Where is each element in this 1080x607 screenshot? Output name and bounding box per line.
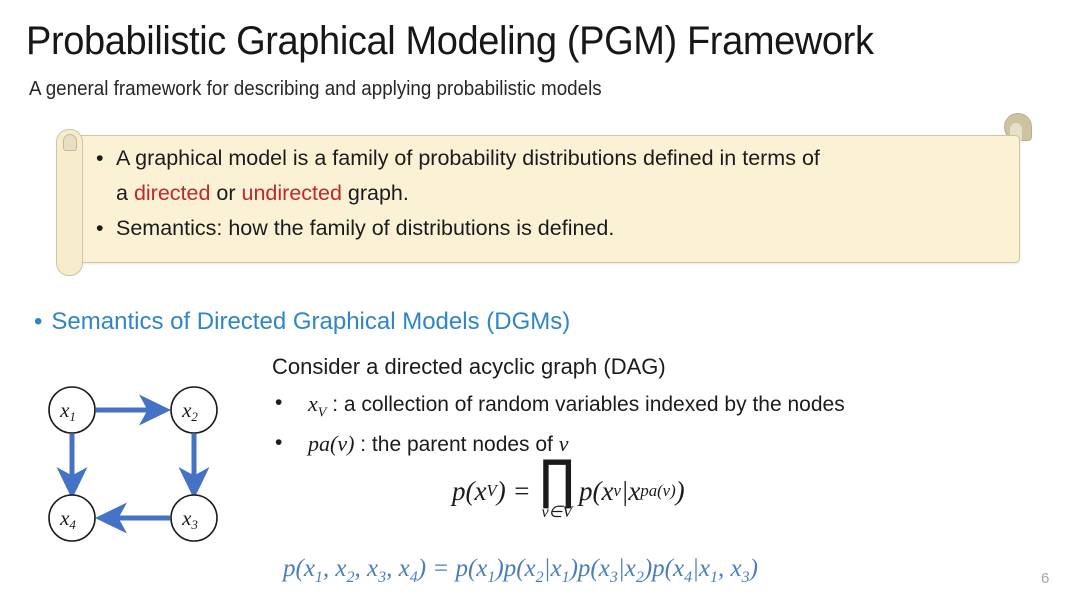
scroll-bullet-2: •Semantics: how the family of distributi… [94,211,1004,246]
product-symbol-group: ∏ v∈V [539,461,575,522]
factor-k: |x [692,555,710,582]
dag-svg: x1 x2 x4 x3 [28,366,258,551]
scroll-text-body: •A graphical model is a family of probab… [94,141,1004,246]
formula-equals: ) = [497,476,531,507]
factor-s4: 4 [410,569,418,586]
definition-item-xv: •xV : a collection of random variables i… [272,388,1032,428]
consider-line: Consider a directed acyclic graph (DAG) [272,352,666,382]
factor-s11: 1 [710,569,718,586]
factor-e: ) = p(x [418,555,488,582]
formula-rhs-bar: |x [621,476,640,507]
factor-s3: 3 [378,569,386,586]
factor-d: , x [386,555,410,582]
math-pa-v: pa(v) [308,431,354,456]
formula-lhs-sub: V [486,481,496,501]
scroll-bullet-1-continuation: a directed or undirected graph. [94,176,1004,211]
math-x-sub-v: xV [308,391,326,416]
factor-s9: 2 [636,569,644,586]
slide-canvas: Probabilistic Graphical Modeling (PGM) F… [0,0,1080,607]
factor-s8: 3 [610,569,618,586]
scroll-bullet-1-text: A graphical model is a family of probabi… [116,146,820,170]
factor-s10: 4 [684,569,692,586]
scroll-line2-suffix: graph. [342,181,409,205]
dag-edges [72,410,194,518]
factor-s6: 2 [536,569,544,586]
factor-l: , x [718,555,742,582]
factor-s2: 2 [347,569,355,586]
scroll-line2-mid: or [210,181,241,205]
factor-g: |x [544,555,562,582]
section-heading-label: Semantics of Directed Graphical Models (… [51,308,570,335]
factor-s1: 1 [315,569,323,586]
formula-rhs-sub2: pa(v) [640,481,675,501]
bullet-glyph: • [96,211,104,246]
bullet-glyph: • [96,141,104,176]
formula-rhs-close: ) [676,476,685,507]
factor-s12: 3 [742,569,750,586]
factor-h: )p(x [570,555,610,582]
factor-m: ) [750,555,758,582]
scroll-line2-prefix: a [116,181,134,205]
scroll-bullet-1: •A graphical model is a family of probab… [94,141,1004,176]
keyword-undirected: undirected [242,181,342,205]
definition-item-xv-text: : a collection of random variables index… [326,393,844,416]
formula-lhs: p(x [452,476,486,507]
product-symbol: ∏ [539,458,574,501]
section-heading: •Semantics of Directed Graphical Models … [34,306,570,338]
dag-diagram: x1 x2 x4 x3 [28,366,258,551]
factor-s7: 1 [562,569,570,586]
scroll-roll-icon [56,129,83,276]
product-formula: p(xV) = ∏ v∈V p(xv|xpa(v)) [452,452,685,530]
factor-b: , x [323,555,347,582]
formula-rhs-open: p(x [579,476,613,507]
factor-i: |x [618,555,636,582]
factor-j: )p(x [644,555,684,582]
bullet-glyph: • [34,308,42,335]
definition-list: •xV : a collection of random variables i… [272,388,1032,460]
bullet-glyph: • [275,427,282,458]
factor-a: p(x [283,555,315,582]
scroll-bullet-2-text: Semantics: how the family of distributio… [116,216,614,240]
page-number: 6 [1041,570,1049,587]
bullet-glyph: • [275,387,282,418]
page-subtitle: A general framework for describing and a… [29,76,602,102]
keyword-directed: directed [134,181,211,205]
formula-rhs-sub1: v [614,481,621,501]
factorization-formula: p(x1, x2, x3, x4) = p(x1)p(x2|x1)p(x3|x2… [283,552,758,595]
factor-f: )p(x [495,555,535,582]
scroll-callout: •A graphical model is a family of probab… [56,113,1032,278]
math-x: x [308,391,318,416]
page-title: Probabilistic Graphical Modeling (PGM) F… [26,17,1005,65]
factor-c: , x [355,555,379,582]
